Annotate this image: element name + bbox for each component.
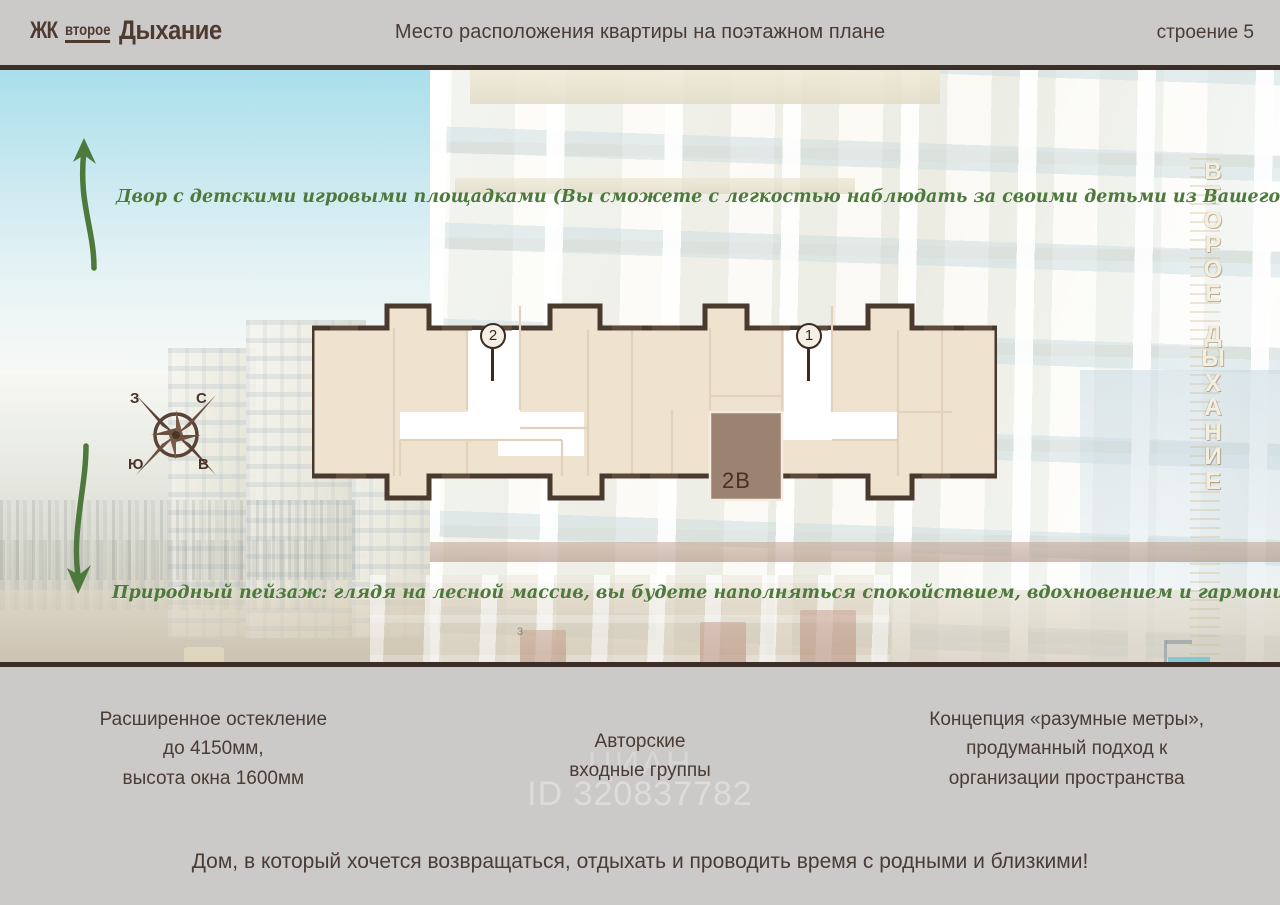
- vertical-sign-letter: Н: [1204, 421, 1221, 445]
- building-label: строение 5: [1157, 0, 1254, 65]
- vertical-sign-letter: Ы: [1201, 347, 1225, 371]
- street-lamp-arm: [1166, 640, 1192, 644]
- compass-label-west: З: [130, 390, 139, 407]
- marker-1-stem: [807, 349, 810, 381]
- unit-label: 2В: [722, 468, 751, 494]
- annotation-courtyard: Двор с детскими игровыми площадками (Вы …: [116, 182, 1280, 214]
- compass-rose: С З Ю В: [128, 390, 224, 482]
- vertical-sign-letter: И: [1204, 445, 1221, 469]
- playground-area: [0, 625, 430, 662]
- vertical-sign-letter: Р: [1205, 233, 1221, 257]
- building-entrance: [800, 610, 856, 662]
- vertical-sign-letter: В: [1204, 160, 1221, 184]
- feature-item: Концепция «разумные метры», продуманный …: [853, 705, 1280, 793]
- footer-bar: ЦИАН ID 320837782 Расширенное остекление…: [0, 662, 1280, 905]
- feature-item: Расширенное остекление до 4150мм, высота…: [0, 705, 427, 793]
- feature-list: Расширенное остекление до 4150мм, высота…: [0, 705, 1280, 793]
- vertical-sign-letter: Е: [1205, 282, 1221, 306]
- compass-label-north: С: [196, 390, 207, 407]
- marker-2-stem: [491, 349, 494, 381]
- page-title: Место расположения квартиры на поэтажном…: [0, 0, 1280, 65]
- header-bar: ЖК второе Дыхание Место расположения ква…: [0, 0, 1280, 70]
- facade-cornice: [470, 70, 940, 104]
- entrance-number-3: 3: [517, 626, 523, 638]
- compass-label-south: Ю: [128, 456, 143, 473]
- footer-tagline: Дом, в который хочется возвращаться, отд…: [0, 850, 1280, 874]
- annotation-nature: Природный пейзаж: глядя на лесной массив…: [112, 578, 1280, 610]
- floor-plan[interactable]: [312, 290, 997, 530]
- vertical-sign-letter: Х: [1205, 372, 1221, 396]
- hero-image: 3 4 ВТОРОЕДЫХАНИЕ Двор с детскими игровы…: [0, 70, 1280, 662]
- feature-item: Авторские входные группы: [427, 705, 854, 793]
- arrow-up-icon: [60, 108, 120, 278]
- compass-label-east: В: [198, 456, 209, 473]
- vertical-sign-letter: Д: [1204, 323, 1221, 347]
- vertical-sign-letter: Е: [1205, 470, 1221, 494]
- poster-root: ЖК второе Дыхание Место расположения ква…: [0, 0, 1280, 905]
- vertical-sign-letter: О: [1204, 258, 1223, 282]
- plan-marker-1[interactable]: 1: [796, 323, 822, 349]
- floor-plan-svg[interactable]: [312, 290, 997, 530]
- arrow-down-icon: [58, 418, 118, 608]
- plan-marker-2[interactable]: 2: [480, 323, 506, 349]
- facade-brown-band: [430, 542, 1280, 562]
- building-entrance: [700, 622, 746, 662]
- building-entrance: [520, 630, 566, 662]
- vertical-sign-letter: А: [1204, 396, 1221, 420]
